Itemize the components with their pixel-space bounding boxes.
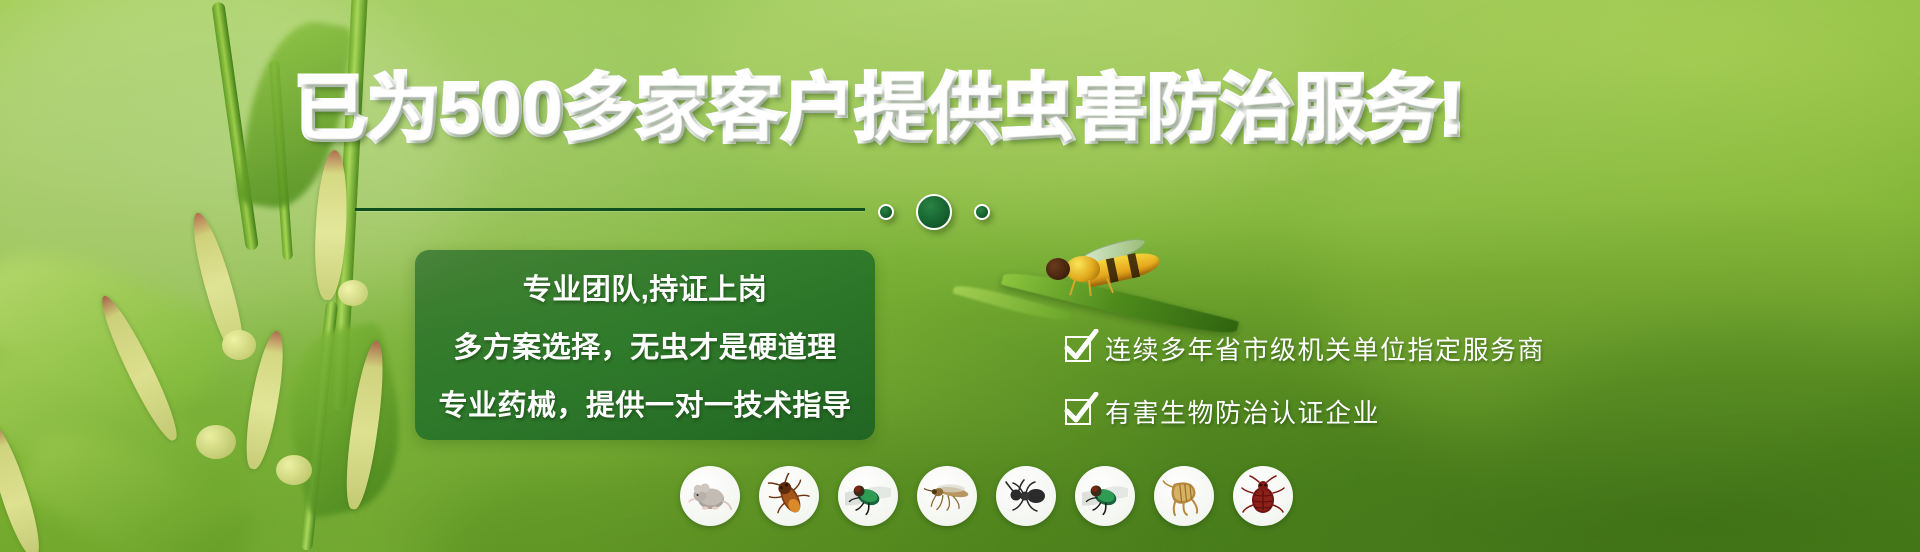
dot-small-left bbox=[878, 204, 894, 220]
credential-text-1: 连续多年省市级机关单位指定服务商 bbox=[1105, 330, 1545, 367]
pest-control-hero-banner: 已为500多家客户提供虫害防治服务! 专业团队,持证上岗 多方案选择，无虫才是硬… bbox=[0, 0, 1920, 552]
dot-large-center bbox=[916, 194, 952, 230]
selling-points-panel: 专业团队,持证上岗 多方案选择，无虫才是硬道理 专业药械，提供一对一技术指导 bbox=[415, 250, 875, 440]
credential-text-2: 有害生物防治认证企业 bbox=[1105, 393, 1380, 430]
ant-icon[interactable] bbox=[996, 466, 1056, 526]
check-icon bbox=[1065, 399, 1091, 425]
banner-headline-text: 已为500多家客户提供虫害防治服务! bbox=[295, 70, 1465, 150]
headline-divider bbox=[355, 208, 865, 211]
cockroach-icon[interactable] bbox=[759, 466, 819, 526]
mosquito-icon[interactable] bbox=[917, 466, 977, 526]
pest-icon-row bbox=[680, 466, 1293, 526]
hoverfly-icon bbox=[1040, 242, 1160, 300]
selling-point-line-3: 专业药械，提供一对一技术指导 bbox=[438, 382, 851, 424]
selling-point-line-2: 多方案选择，无虫才是硬道理 bbox=[453, 324, 837, 366]
credentials-list: 连续多年省市级机关单位指定服务商 有害生物防治认证企业 bbox=[1065, 330, 1545, 430]
credential-item-1: 连续多年省市级机关单位指定服务商 bbox=[1065, 330, 1545, 367]
credential-item-2: 有害生物防治认证企业 bbox=[1065, 393, 1545, 430]
banner-headline: 已为500多家客户提供虫害防治服务! bbox=[295, 74, 1625, 146]
dot-small-right bbox=[974, 204, 990, 220]
check-icon bbox=[1065, 336, 1091, 362]
flea-icon[interactable] bbox=[1154, 466, 1214, 526]
fly-icon-2[interactable] bbox=[1075, 466, 1135, 526]
selling-point-line-1: 专业团队,持证上岗 bbox=[523, 266, 768, 308]
fly-icon[interactable] bbox=[838, 466, 898, 526]
bedbug-icon[interactable] bbox=[1233, 466, 1293, 526]
mouse-icon[interactable] bbox=[680, 466, 740, 526]
